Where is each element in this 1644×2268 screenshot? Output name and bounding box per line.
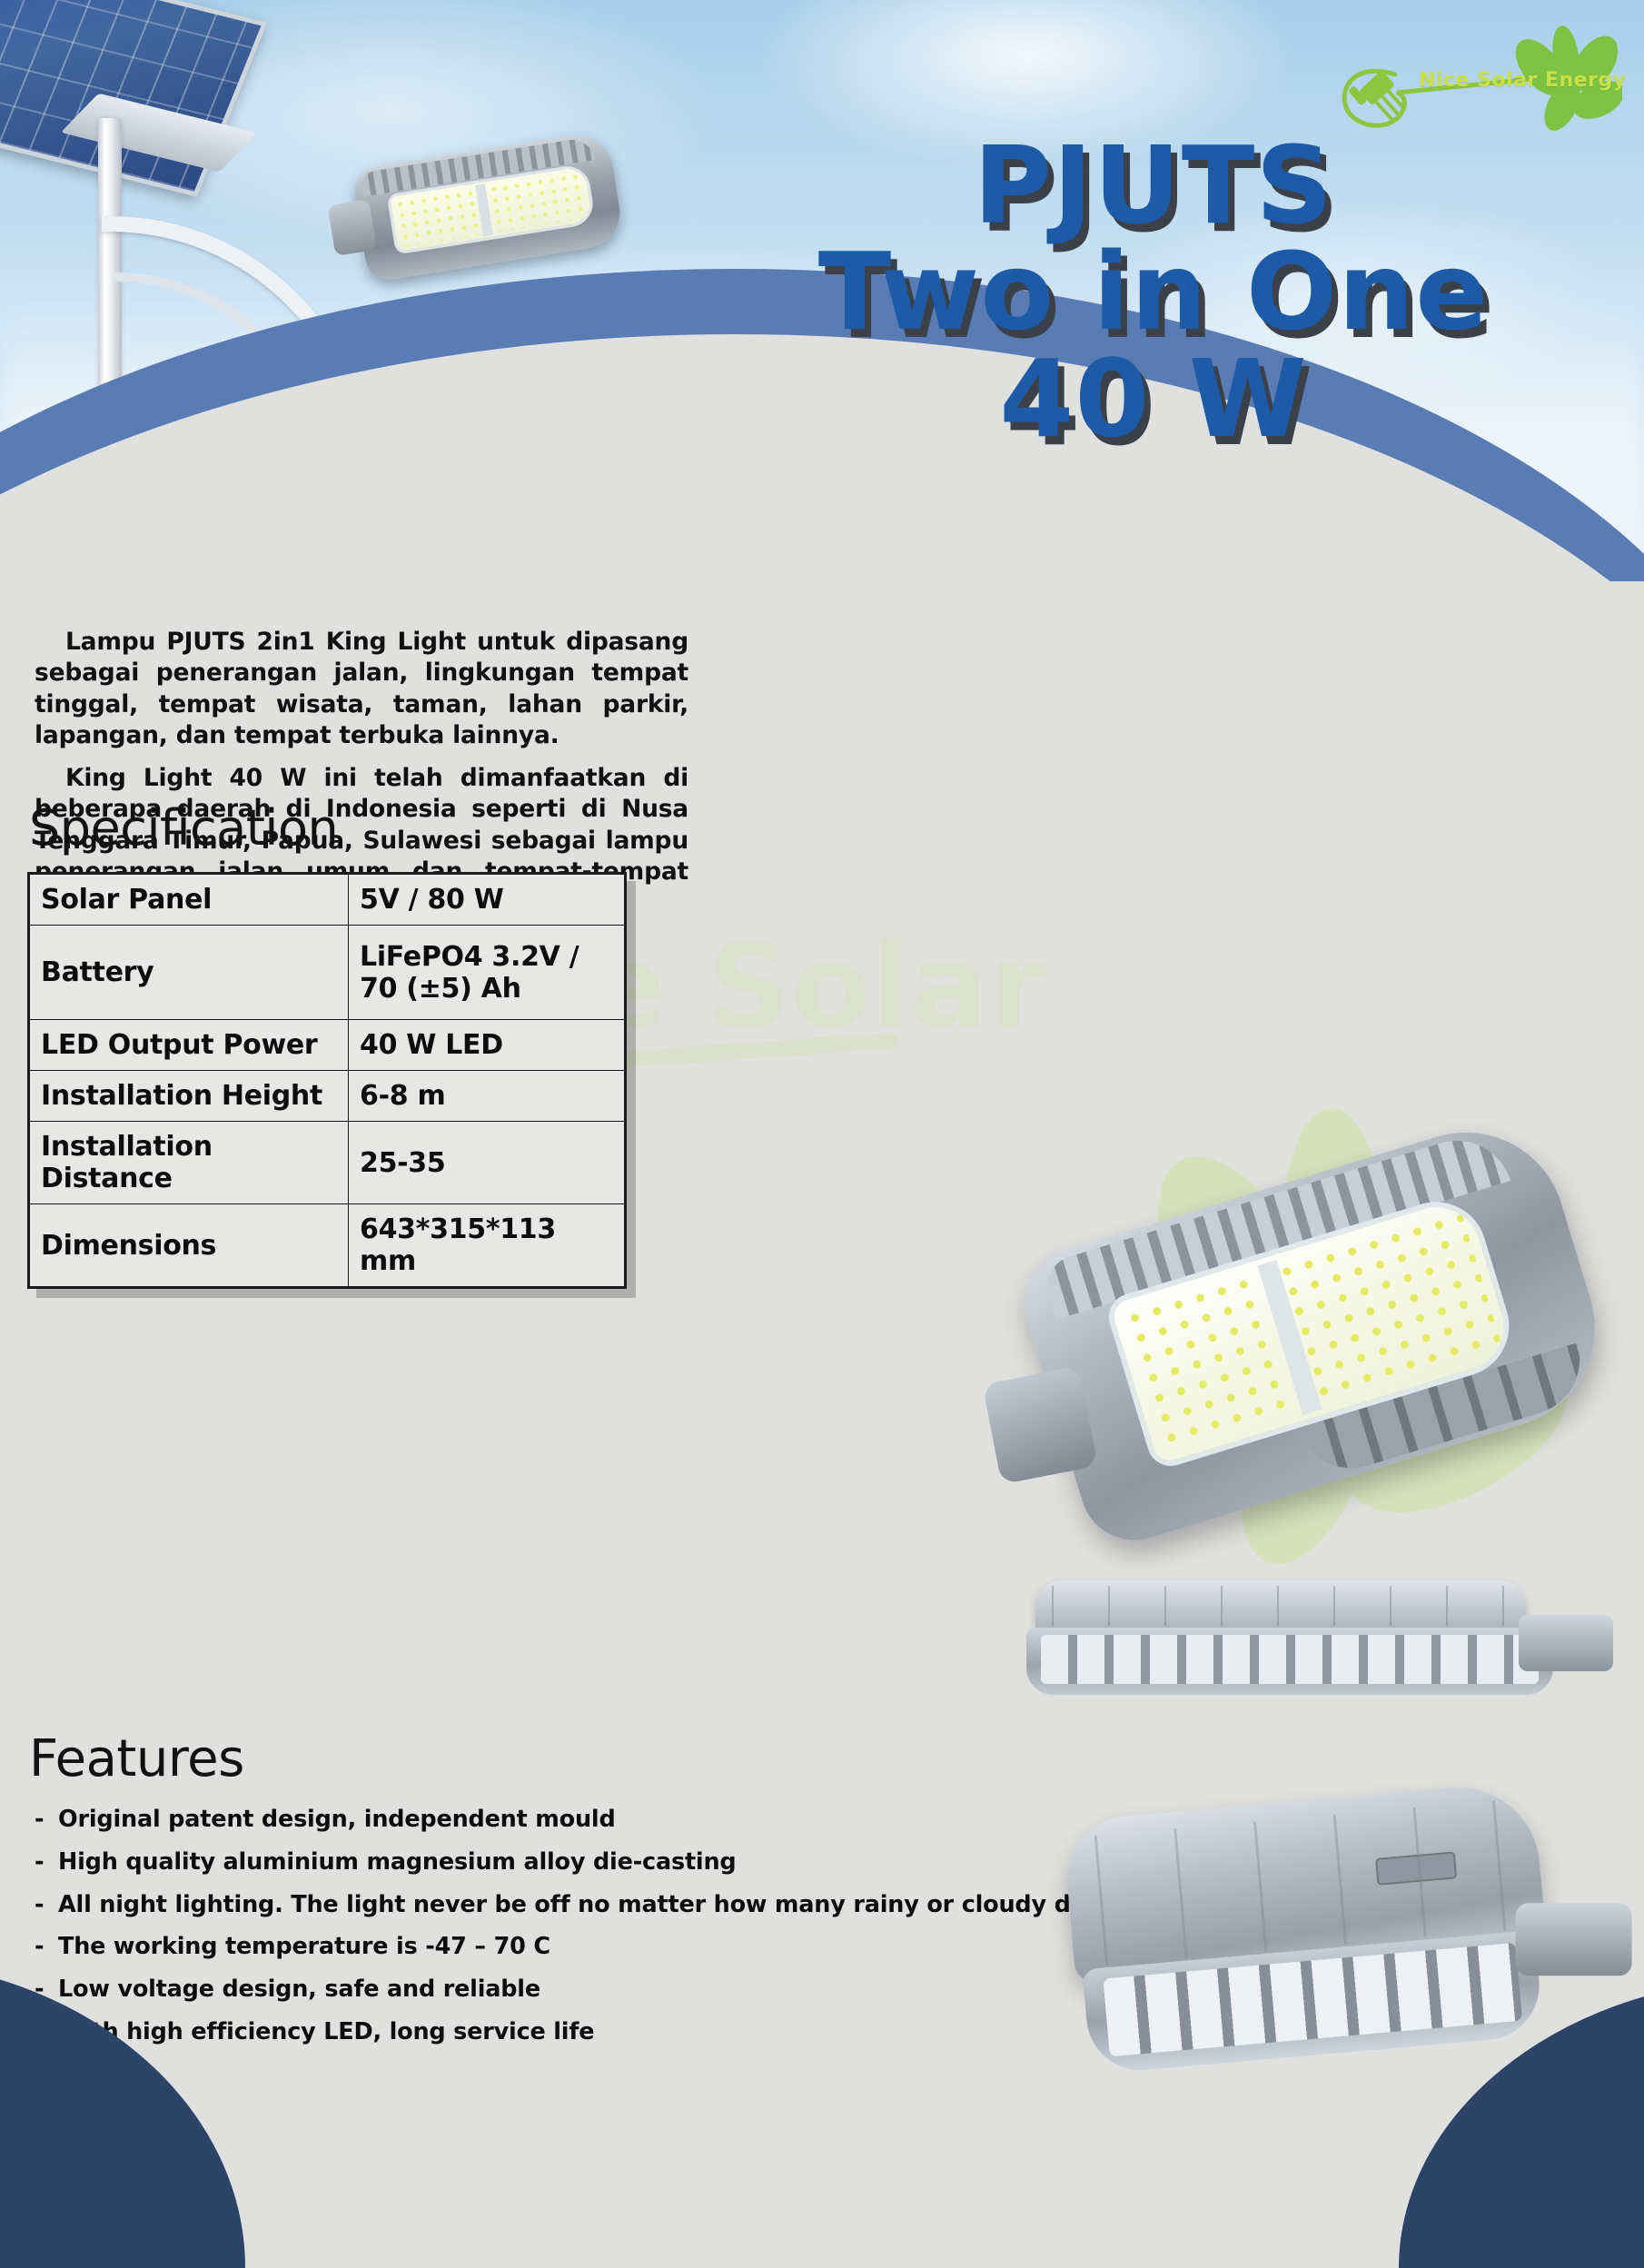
list-item: -All night lighting. The light never be …	[35, 1893, 1034, 1917]
table-row: Dimensions 643*315*113 mm	[29, 1204, 626, 1288]
spec-key: LED Output Power	[29, 1020, 349, 1071]
brand-badge	[1375, 1851, 1457, 1886]
feature-text: Original patent design, independent moul…	[58, 1806, 616, 1833]
table-row: Installation Distance 25-35	[29, 1122, 626, 1204]
lamp-mount-bracket	[983, 1366, 1098, 1485]
lamp-mount-arm	[1519, 1615, 1613, 1671]
lamp-top-shell	[1035, 1580, 1526, 1631]
page-content: Nice Solar Energy Lampu PJUTS 2in1 King …	[0, 581, 1644, 2159]
intro-paragraph-1-text: Lampu PJUTS 2in1 King Light untuk dipasa…	[35, 628, 688, 749]
spec-value: LiFePO4 3.2V / 70 (±5) Ah	[349, 926, 626, 1020]
lamp-lower-lens-row	[1026, 1628, 1553, 1695]
table-row: LED Output Power 40 W LED	[29, 1020, 626, 1071]
features-heading: Features	[29, 1729, 244, 1788]
feature-text: All night lighting. The light never be o…	[58, 1891, 1114, 1918]
feature-text: High quality aluminium magnesium alloy d…	[58, 1848, 736, 1876]
spec-value: 25-35	[349, 1122, 626, 1204]
spec-value: 40 W LED	[349, 1020, 626, 1071]
hero-title-line-1: PJUTS	[699, 134, 1608, 237]
hero-title-line-3: 40 W	[699, 348, 1608, 451]
spec-key: Installation Height	[29, 1071, 349, 1122]
list-item: -Low voltage design, safe and reliable	[35, 1977, 1034, 2002]
table-row: Solar Panel 5V / 80 W	[29, 874, 626, 926]
spec-key: Battery	[29, 926, 349, 1020]
spec-value: 5V / 80 W	[349, 874, 626, 926]
spec-key: Installation Distance	[29, 1122, 349, 1204]
logo-wordmark: Nice Solar Energy	[1419, 69, 1626, 92]
table-row: Installation Height 6-8 m	[29, 1071, 626, 1122]
lens-divider	[476, 183, 494, 236]
spec-value: 643*315*113 mm	[349, 1204, 626, 1288]
list-item: -The working temperature is -47 – 70 C	[35, 1935, 1034, 1959]
spec-value: 6-8 m	[349, 1071, 626, 1122]
lamp-mount-arm	[1516, 1903, 1632, 1976]
list-item: -High quality aluminium magnesium alloy …	[35, 1850, 1034, 1875]
bullet-dash: -	[35, 1807, 58, 1832]
bullet-dash: -	[35, 1893, 58, 1917]
hero-title-line-2: Two in One	[699, 241, 1608, 343]
hero-banner: Nice Solar Energy PJUTS Two in One 40 W	[0, 0, 1644, 581]
spec-key: Solar Panel	[29, 874, 349, 926]
lens-divider	[1257, 1260, 1322, 1415]
intro-paragraph-1: Lampu PJUTS 2in1 King Light untuk dipasa…	[35, 627, 688, 752]
feature-text: With high efficiency LED, long service l…	[58, 2018, 594, 2045]
spec-key: Dimensions	[29, 1204, 349, 1288]
lamp-mount-bracket	[328, 199, 377, 256]
list-item: -With high efficiency LED, long service …	[35, 2020, 1034, 2045]
table-row: Battery LiFePO4 3.2V / 70 (±5) Ah	[29, 926, 626, 1020]
feature-text: Low voltage design, safe and reliable	[58, 1976, 540, 2003]
list-item: -Original patent design, independent mou…	[35, 1807, 1034, 1832]
specification-heading: Specification	[29, 799, 338, 857]
features-list: -Original patent design, independent mou…	[35, 1807, 1034, 2063]
bullet-dash: -	[35, 1935, 58, 1959]
hero-title: PJUTS Two in One 40 W	[699, 134, 1608, 451]
brand-logo: Nice Solar Energy	[1332, 20, 1622, 138]
product-image-side-view	[1026, 1580, 1608, 1717]
feature-text: The working temperature is -47 – 70 C	[58, 1933, 550, 1960]
specification-table: Solar Panel 5V / 80 W Battery LiFePO4 3.…	[27, 872, 627, 1289]
bullet-dash: -	[35, 1850, 58, 1875]
specification-table-wrapper: Solar Panel 5V / 80 W Battery LiFePO4 3.…	[27, 872, 627, 1289]
